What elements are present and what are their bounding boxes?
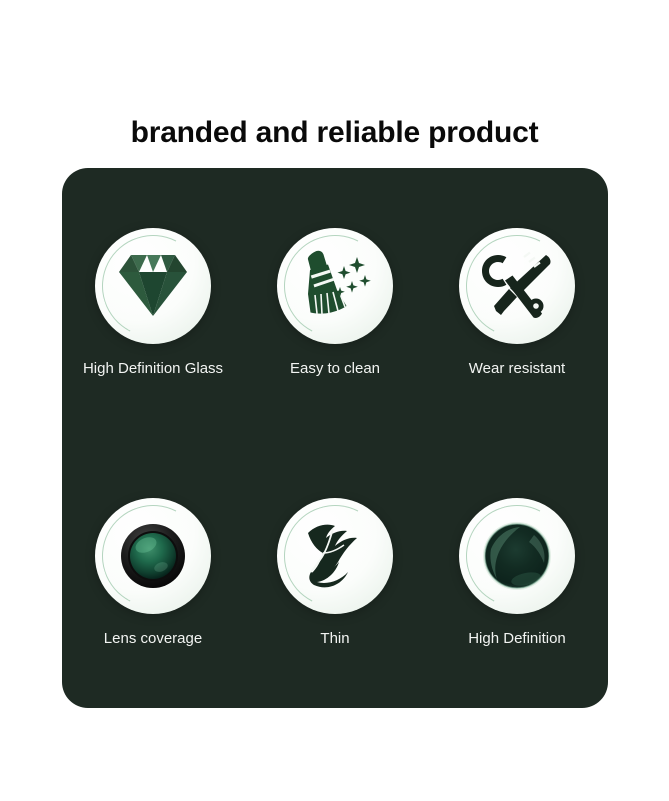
water-droplet-icon [482,521,552,591]
wrench-screwdriver-icon [480,251,554,321]
feature-label: High Definition [468,630,566,648]
feather-icon [300,523,370,589]
feature-item-thin[interactable]: Thin [244,498,426,648]
feature-item-high-definition[interactable]: High Definition [426,498,608,648]
icon-circle [95,498,211,614]
icon-circle [459,228,575,344]
feature-item-high-definition-glass[interactable]: High Definition Glass [62,228,244,378]
feature-label: Lens coverage [104,630,202,648]
feature-label: High Definition Glass [83,360,223,378]
icon-circle [277,228,393,344]
feature-item-lens-coverage[interactable]: Lens coverage [62,498,244,648]
broom-sparkle-icon [294,249,376,323]
feature-panel: High Definition Glass [62,168,608,708]
feature-label: Easy to clean [290,360,380,378]
page-title: branded and reliable product [0,116,669,149]
camera-lens-icon [120,523,186,589]
feature-item-easy-to-clean[interactable]: Easy to clean [244,228,426,378]
feature-grid: High Definition Glass [62,168,608,708]
diamond-icon [117,255,189,317]
icon-circle [277,498,393,614]
icon-circle [95,228,211,344]
feature-item-wear-resistant[interactable]: Wear resistant [426,228,608,378]
icon-circle [459,498,575,614]
feature-label: Wear resistant [469,360,565,378]
feature-label: Thin [320,630,349,648]
